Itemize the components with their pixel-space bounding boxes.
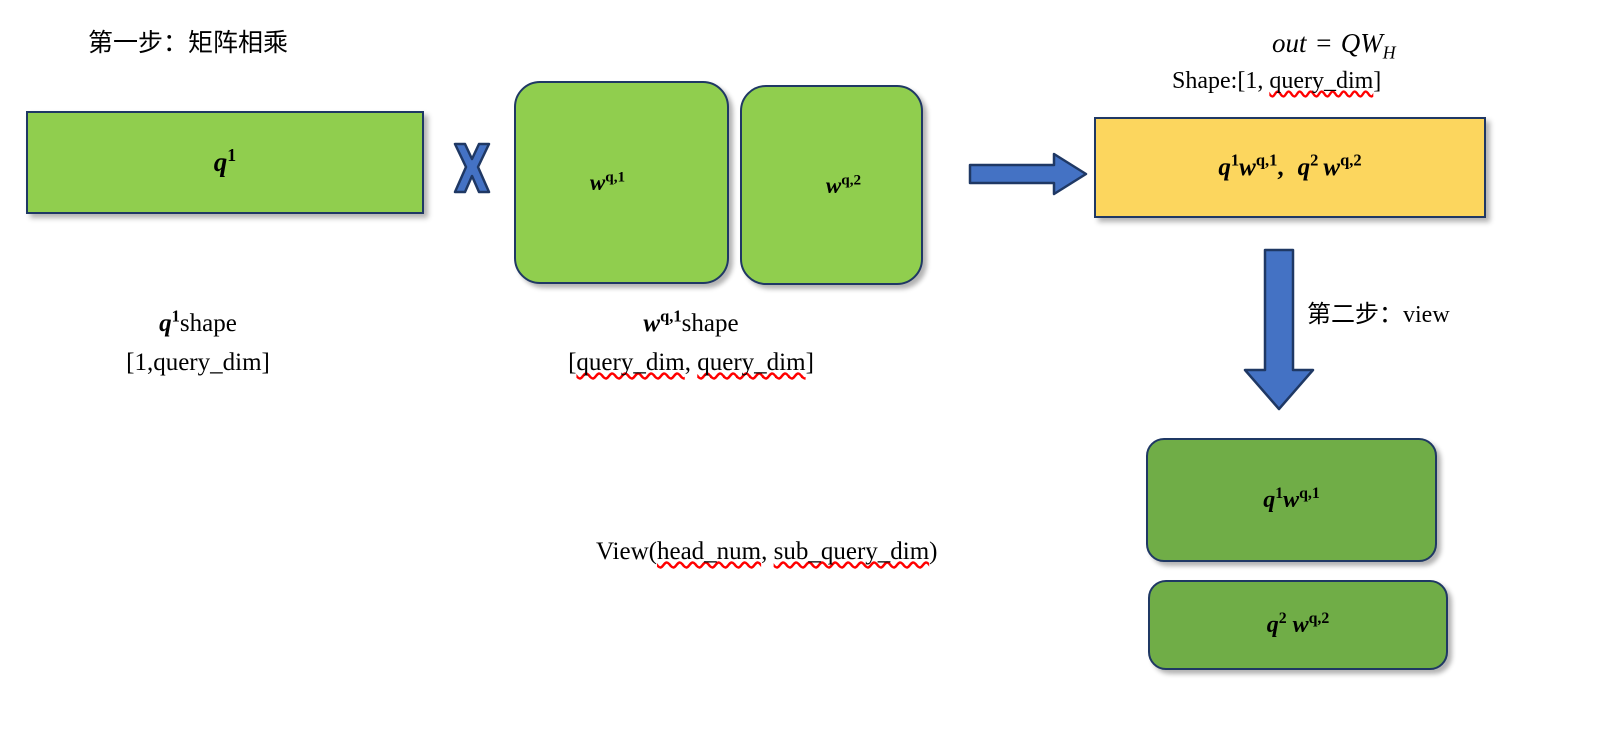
wq1-box[interactable]: wq,1 [514,81,729,284]
wq2-box-label: wq,2 [826,174,861,197]
view-result-1-q-base: q [1263,487,1275,513]
wq1-shape-caption: wq,1shape [query_dim, query_dim] [546,308,836,379]
q1-shape-caption-symbol-base: q [159,310,172,337]
arrow-right-icon-svg [968,152,1088,196]
wq2-box[interactable]: wq,2 [740,85,923,285]
q1-shape-caption-title: q1shape [83,308,313,340]
q1-box[interactable]: q1 [26,111,424,214]
view-call-comma: , [761,538,774,565]
wq1-shape-close: ] [806,349,814,376]
wq1-shape-caption-symbol: wq,1 [643,310,681,337]
q1-shape-caption-symbol-sup: 1 [172,307,180,326]
wq1-shape-caption-word: shape [682,310,739,337]
view-result-box-1-label: q1wq,1 [1263,488,1320,512]
output-formula-rhs-base: QW [1341,28,1383,58]
view-result-1-w-sup: q,1 [1299,485,1320,502]
output-shape-token: query_dim [1269,68,1373,94]
view-result-2-w-sup: q,2 [1309,610,1330,627]
output-formula-lhs: out [1272,28,1307,58]
multiply-x-icon [452,142,492,194]
wq1-shape-caption-value: [query_dim, query_dim] [546,347,836,379]
view-call-caption: View(head_num, sub_query_dim) [596,536,938,568]
q1-box-label-base: q [214,147,228,177]
view-result-2-q-base: q [1267,612,1279,638]
wq1-shape-caption-symbol-base: w [643,310,660,337]
output-shape-prefix: Shape:[1, [1172,68,1269,94]
view-call-suffix: ) [929,538,937,565]
step1-title: 第一步：矩阵相乘 [88,28,288,60]
view-result-box-2-label: q2wq,2 [1267,613,1330,637]
view-result-1-q-sup: 1 [1275,485,1283,502]
view-call-prefix: View( [596,538,657,565]
output-shape-caption: Shape:[1, query_dim] [1172,66,1381,97]
product-label-separator: , [1277,154,1297,181]
product-label-w2-base: w [1318,154,1340,181]
wq1-box-label: wq,1 [590,171,625,194]
wq1-shape-token1: query_dim [576,349,684,376]
view-result-box-2[interactable]: q2wq,2 [1148,580,1448,670]
product-label-w1-base: w [1239,154,1256,181]
q1-shape-caption: q1shape [1,query_dim] [83,308,313,379]
step2-title-text: 第二步：view [1307,302,1450,328]
view-call-token1: head_num [657,538,761,565]
product-box-label: q1wq,1,q2wq,2 [1218,155,1361,180]
output-formula-rhs: QWH [1341,28,1396,58]
step1-title-text: 第一步：矩阵相乘 [88,30,288,57]
view-result-2-w-base: w [1287,612,1309,638]
product-label-q1-base: q [1218,154,1231,181]
q1-shape-caption-word: shape [180,310,237,337]
wq1-shape-caption-symbol-sup: q,1 [660,307,682,326]
q1-shape-caption-value: [1,query_dim] [83,347,313,379]
arrow-right-icon [968,152,1088,196]
product-label-w1-sup: q,1 [1256,151,1278,170]
output-formula-rhs-subscript: H [1383,42,1396,62]
wq1-shape-comma: , [685,349,698,376]
product-label-q2-base: q [1298,154,1311,181]
step2-title: 第二步：view [1307,300,1450,331]
multiply-x-icon-svg [452,142,492,194]
view-result-2-q-sup: 2 [1279,610,1287,627]
output-formula-equals: = [1307,28,1341,58]
wq2-box-label-base: w [826,173,841,198]
wq1-box-label-sup: q,1 [605,168,625,185]
view-result-1-w-base: w [1283,487,1299,513]
q1-box-label-sup: 1 [227,145,236,165]
wq2-box-label-sup: q,2 [841,171,861,188]
product-box[interactable]: q1wq,1,q2wq,2 [1094,117,1486,218]
view-call-token2: sub_query_dim [774,538,930,565]
wq1-shape-token2: query_dim [697,349,805,376]
product-label-w2-sup: q,2 [1340,151,1362,170]
wq1-shape-caption-title: wq,1shape [546,308,836,340]
wq1-box-label-base: w [590,170,605,195]
q1-box-label: q1 [214,149,236,176]
product-label-q1-sup: 1 [1231,151,1239,170]
view-result-box-1[interactable]: q1wq,1 [1146,438,1437,562]
output-formula: out=QWH [1272,26,1396,61]
output-shape-suffix: ] [1373,68,1381,94]
q1-shape-caption-symbol: q1 [159,310,180,337]
